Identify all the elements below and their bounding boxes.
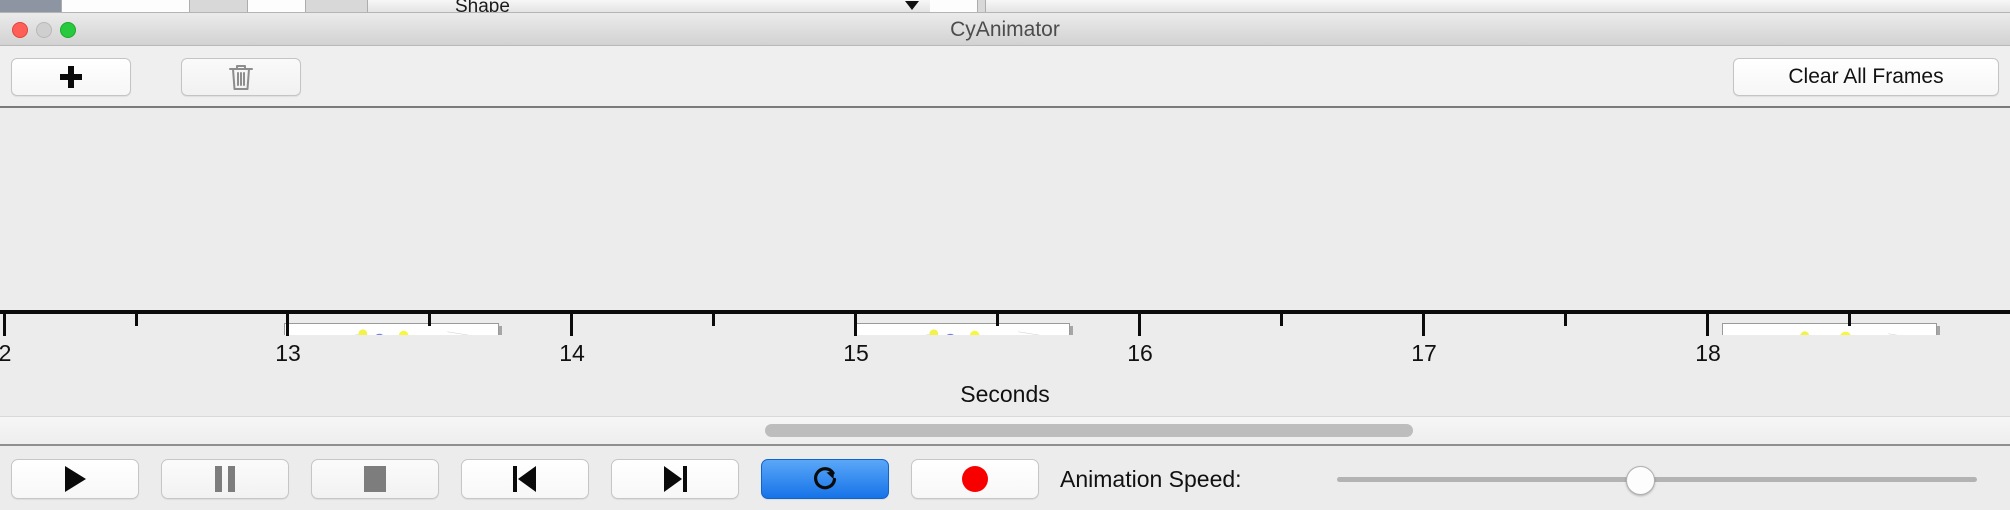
axis-tick-major	[1422, 314, 1425, 336]
skip-forward-icon	[663, 466, 687, 492]
frame-thumbnail-1[interactable]: MCM1	[284, 323, 499, 335]
axis-tick-minor	[1280, 314, 1283, 326]
animation-speed-slider-track[interactable]	[1337, 477, 1977, 482]
loop-button[interactable]	[761, 459, 889, 499]
stop-button[interactable]	[311, 459, 439, 499]
axis-tick-label: 2	[0, 340, 11, 367]
clear-all-frames-button[interactable]: Clear All Frames	[1733, 58, 1999, 96]
axis-tick-label: 18	[1695, 340, 1721, 367]
record-icon	[962, 466, 988, 492]
axis-tick-major	[3, 314, 6, 336]
toolbar: Clear All Frames	[0, 46, 2010, 108]
loop-icon	[810, 464, 840, 494]
clear-all-frames-label: Clear All Frames	[1788, 65, 1943, 89]
axis-tick-minor	[428, 314, 431, 326]
playback-controls: Animation Speed:	[0, 444, 2010, 510]
delete-frame-button[interactable]	[181, 58, 301, 96]
frame-thumbnail-3[interactable]: MCM1	[1722, 323, 1937, 335]
next-frame-button[interactable]	[611, 459, 739, 499]
bg-tab-7	[978, 0, 986, 13]
bg-tab-4	[248, 0, 306, 13]
axis-tick-minor	[135, 314, 138, 326]
pause-button[interactable]	[161, 459, 289, 499]
axis-tick-major	[286, 314, 289, 336]
record-button[interactable]	[911, 459, 1039, 499]
timeline-scrollbar[interactable]	[0, 416, 2010, 444]
axis-tick-minor	[712, 314, 715, 326]
axis-tick-major	[854, 314, 857, 336]
network-graph-2: MCM1	[856, 324, 1069, 335]
frame-thumbnail-2[interactable]: MCM1	[855, 323, 1070, 335]
stop-icon	[364, 466, 386, 492]
animation-speed-slider-thumb[interactable]	[1626, 466, 1655, 495]
axis-tick-label: 14	[559, 340, 585, 367]
title-bar: CyAnimator	[0, 13, 2010, 46]
previous-frame-button[interactable]	[461, 459, 589, 499]
axis-tick-label: 15	[843, 340, 869, 367]
network-graph-1: MCM1	[285, 324, 498, 335]
axis-tick-minor	[1564, 314, 1567, 326]
play-button[interactable]	[11, 459, 139, 499]
timeline-panel[interactable]: MCM1	[0, 108, 2010, 335]
axis-tick-label: 13	[275, 340, 301, 367]
axis-tick-label: 17	[1411, 340, 1437, 367]
axis-tick-minor	[996, 314, 999, 326]
network-graph-3: MCM1	[1723, 324, 1936, 335]
animation-speed-label: Animation Speed:	[1060, 459, 1242, 499]
scrollbar-thumb[interactable]	[765, 424, 1413, 437]
bg-window-label: Shape	[455, 0, 510, 13]
pause-icon	[215, 466, 235, 492]
skip-back-icon	[513, 466, 537, 492]
bg-tab-2	[62, 0, 190, 13]
plus-icon	[60, 66, 82, 88]
axis-tick-label: 16	[1127, 340, 1153, 367]
axis-tick-major	[1138, 314, 1141, 336]
axis-tick-major	[1706, 314, 1709, 336]
axis-title: Seconds	[0, 381, 2010, 408]
bg-caret-icon	[905, 1, 919, 10]
trash-icon	[227, 62, 255, 92]
add-frame-button[interactable]	[11, 58, 131, 96]
bg-tab-5	[306, 0, 368, 13]
background-window-strip: Shape	[0, 0, 2010, 13]
axis-tick-major	[570, 314, 573, 336]
window-title: CyAnimator	[0, 13, 2010, 46]
bg-tab-3	[190, 0, 248, 13]
play-icon	[65, 466, 86, 492]
axis-tick-minor	[1848, 314, 1851, 326]
bg-tab-1	[0, 0, 62, 13]
bg-tab-6	[930, 0, 978, 13]
